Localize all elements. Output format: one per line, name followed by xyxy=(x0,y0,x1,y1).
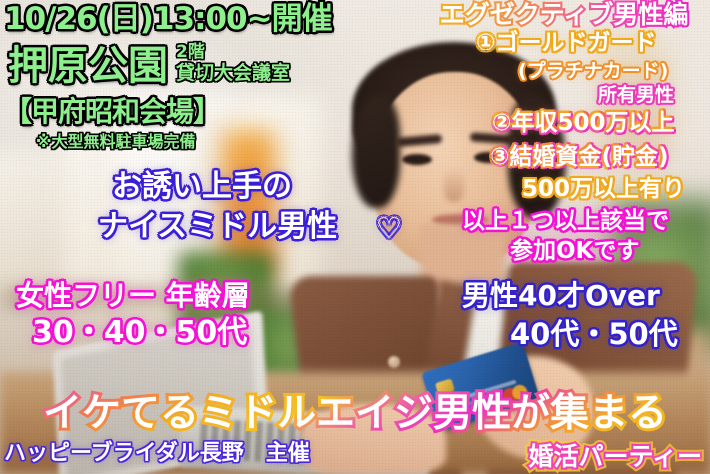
organizer-text: ハッピーブライダル長野 主催 xyxy=(4,443,310,465)
poster-root: 10/26(日)13:00~開催 押原公園 2階 貸切大会議室 【甲府昭和会場】… xyxy=(0,0,710,474)
exec-item-1-sub: (プラチナカード) xyxy=(518,62,668,81)
exec-item-3-sub: 500万以上有り xyxy=(522,178,685,201)
catch-line-2: ナイスミドル男性 xyxy=(98,212,337,242)
exec-item-3: ③結婚資金(貯金) xyxy=(490,146,669,169)
men-age-line-2: 40代・50代 xyxy=(510,320,678,349)
venue-name-text: 押原公園 xyxy=(8,46,168,86)
catch-line-1: お誘い上手の xyxy=(112,172,292,202)
heart-icon: ♡ xyxy=(376,214,402,243)
exec-condition-2: 参加OKです xyxy=(510,240,639,263)
parking-note-text: ※大型無料駐車場完備 xyxy=(36,134,196,150)
exec-title-text: エグゼクティブ男性編 xyxy=(440,0,689,29)
women-free-line-2: 30・40・50代 xyxy=(32,318,247,348)
exec-item-1-sub2: 所有男性 xyxy=(598,86,674,105)
event-date-text: 10/26(日)13:00~開催 xyxy=(4,4,332,35)
exec-item-2: ②年収500万以上 xyxy=(492,112,674,135)
exec-condition-1: 以上１つ以上該当で xyxy=(462,210,669,233)
women-free-line-1: 女性フリー 年齢層 xyxy=(16,282,250,310)
men-age-line-1: 男性40才Over xyxy=(462,282,660,310)
venue-floor-text: 2階 xyxy=(176,44,205,61)
party-label-text: 婚活パーティー xyxy=(528,442,702,471)
exec-item-1: ①ゴールドガード xyxy=(476,32,656,55)
venue-room-text: 貸切大会議室 xyxy=(176,64,290,83)
party-label-group: 婚活パーティー 婚活パーティー xyxy=(430,436,710,474)
exec-title-gradient-defs: エグゼクティブ男性編 xyxy=(418,0,710,30)
area-label-text: 【甲府昭和会場】 xyxy=(4,98,220,126)
bottom-headline-text: イケてるミドルエイジ男性が集まる xyxy=(43,391,667,436)
bottom-headline-group: イケてるミドルエイジ男性が集まる xyxy=(0,382,710,444)
